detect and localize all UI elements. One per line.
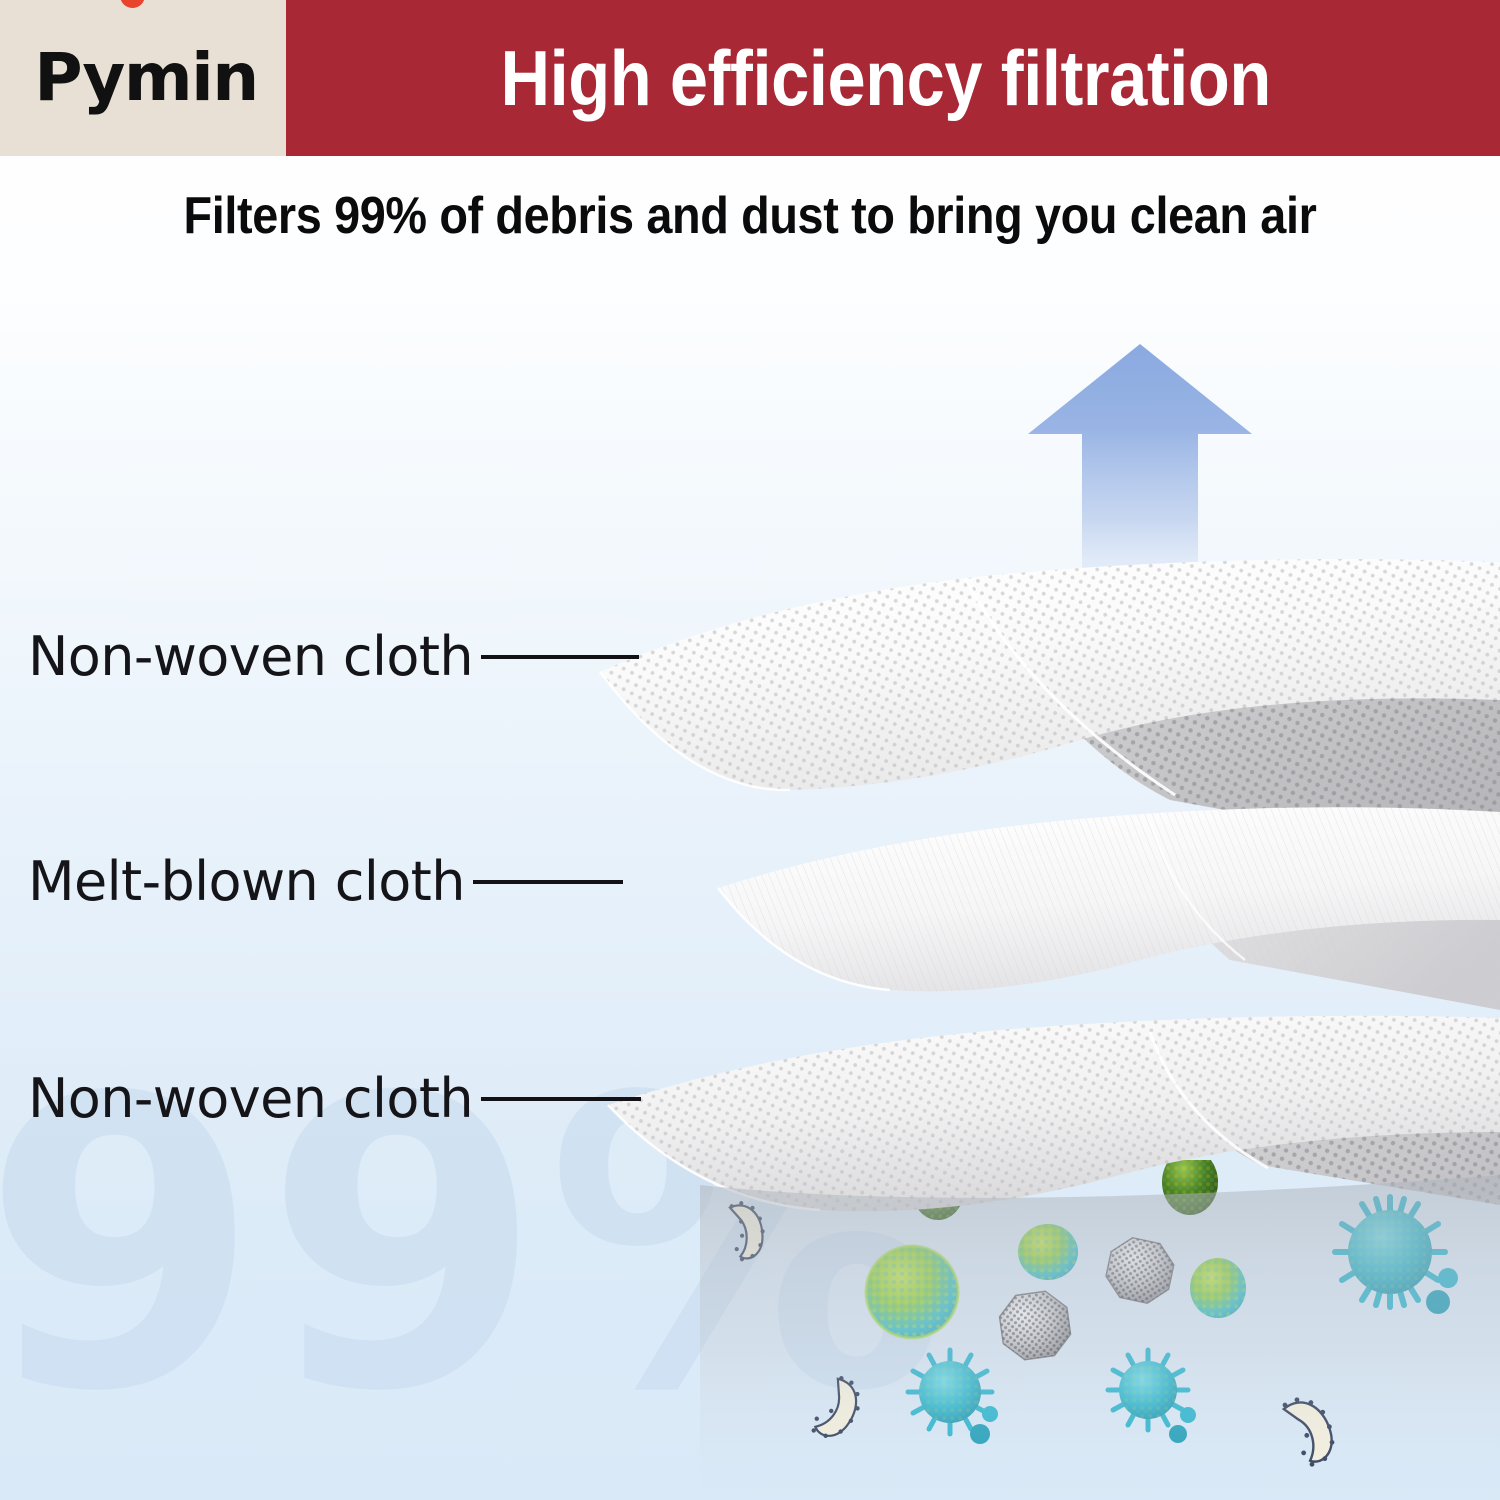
leader-line [481, 1097, 641, 1101]
label-text: Non-woven cloth [28, 1072, 473, 1126]
germ-particle-field [700, 1160, 1500, 1500]
leader-line [473, 880, 623, 884]
bacterium-particle [809, 1373, 869, 1446]
label-text: Melt-blown cloth [28, 855, 465, 909]
label-non-woven-cloth-top: Non-woven cloth [28, 630, 639, 684]
dark-green-spore-particle [912, 1160, 964, 1220]
green-virus-cluster-particle [866, 1246, 958, 1338]
coronavirus-particle [1108, 1350, 1196, 1443]
banner-title: High efficiency filtration [501, 39, 1271, 117]
cloth-layer-melt-blown [718, 807, 1500, 1010]
coronavirus-particle [908, 1350, 998, 1444]
gray-capsid-virus-particle [997, 1289, 1073, 1363]
product-infographic: 99% [0, 0, 1500, 1500]
brand-logo: Pymin [0, 0, 286, 156]
bacterium-particle [725, 1198, 770, 1263]
airflow-arrow-icon [1020, 338, 1260, 628]
green-virus-cluster-particle [1018, 1224, 1078, 1280]
label-text: Non-woven cloth [28, 630, 473, 684]
label-non-woven-cloth-bottom: Non-woven cloth [28, 1072, 641, 1126]
brand-dot-icon [120, 0, 145, 8]
gray-capsid-virus-particle [1102, 1234, 1177, 1307]
label-melt-blown-cloth: Melt-blown cloth [28, 855, 623, 909]
green-virus-cluster-particle [1190, 1258, 1246, 1318]
dark-green-spore-particle [1162, 1160, 1218, 1215]
banner: High efficiency filtration [286, 0, 1500, 156]
header-bar: Pymin High efficiency filtration [0, 0, 1500, 156]
brand-wordmark: Pymin [28, 45, 258, 111]
coronavirus-particle [1335, 1197, 1458, 1314]
bacterium-particle [1276, 1388, 1345, 1470]
subtitle-text: Filters 99% of debris and dust to bring … [75, 186, 1425, 246]
leader-line [481, 655, 639, 659]
